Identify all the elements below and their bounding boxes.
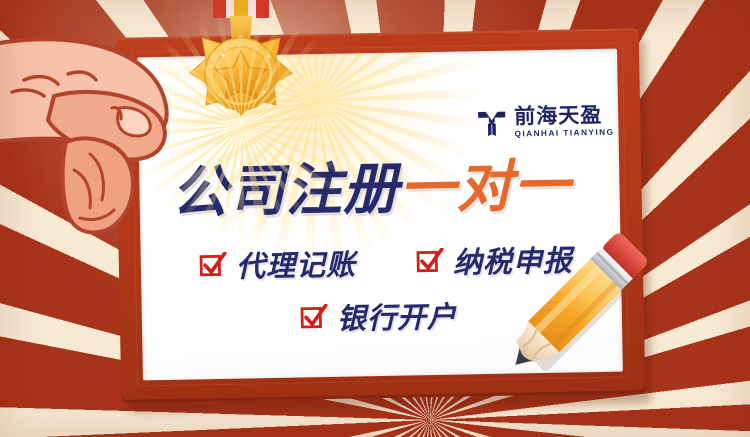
headline-accent: 一对一 <box>399 154 571 220</box>
promo-banner: 前海天盈 QIANHAI TIANYING 公司注册一对一 代理记账 <box>0 0 750 437</box>
logo-company-name: 前海天盈 <box>514 105 614 128</box>
cartoon-hand <box>0 30 194 245</box>
pencil-illustration <box>503 228 675 400</box>
company-logo: 前海天盈 QIANHAI TIANYING <box>476 105 615 140</box>
checkbox-checked-icon <box>416 248 444 275</box>
list-item: 银行开户 <box>299 294 457 339</box>
logo-text: 前海天盈 QIANHAI TIANYING <box>514 105 615 139</box>
list-item-label: 代理记账 <box>235 241 356 285</box>
cartoon-hand-illustration <box>0 30 194 245</box>
checkbox-checked-icon <box>199 252 227 279</box>
qianhai-tianying-logo-mark <box>476 107 508 139</box>
checklist-row-bottom: 银行开户 <box>299 294 457 339</box>
list-item-label: 银行开户 <box>336 294 457 338</box>
pencil <box>503 228 675 400</box>
logo-company-pinyin: QIANHAI TIANYING <box>514 129 614 139</box>
list-item: 代理记账 <box>198 241 356 286</box>
checkbox-checked-icon <box>300 304 328 331</box>
